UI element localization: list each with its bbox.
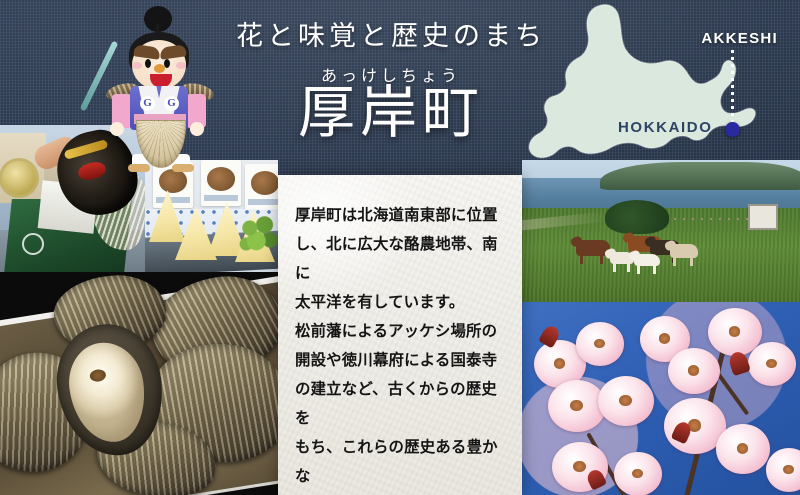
akkeshi-leader-line	[731, 50, 734, 125]
cherry-blossom	[748, 342, 796, 386]
hokkaido-map: HOKKAIDO AKKESHI	[522, 0, 800, 200]
poster-canvas: HOKKAIDO AKKESHI 花と味覚と歴史のまち あっけしちょう 厚岸町	[0, 0, 800, 495]
mascot-sandal	[172, 164, 194, 172]
description-panel: 厚岸町は北海道南東部に位置 し、北に広大な酪農地帯、南に 太平洋を有しています。…	[278, 175, 522, 495]
oyster-photo	[0, 272, 278, 495]
cherry-blossom	[668, 348, 720, 394]
package-window	[251, 171, 278, 195]
mascot-nose	[154, 64, 165, 73]
akkeshi-label: AKKESHI	[701, 30, 778, 47]
mascot-crest-icon	[164, 96, 179, 111]
description-text: 厚岸町は北海道南東部に位置 し、北に広大な酪農地帯、南に 太平洋を有しています。…	[295, 201, 507, 495]
cherry-blossom	[598, 376, 654, 426]
mascot-crest-icon	[140, 96, 155, 111]
pasture-bush	[605, 200, 669, 234]
sakura-photo	[522, 302, 800, 495]
cherry-blossom	[548, 380, 606, 432]
page-title: 厚岸町	[226, 84, 556, 144]
headline-block: 花と味覚と歴史のまち あっけしちょう 厚岸町	[226, 14, 556, 144]
mascot-cheek	[132, 62, 142, 69]
cherry-blossom	[716, 424, 770, 474]
cheese-photo	[145, 160, 278, 272]
package-label-bar	[156, 197, 190, 203]
cheese-package	[245, 164, 278, 210]
cherry-blossom	[576, 322, 624, 366]
akkeshi-mascot	[98, 2, 226, 174]
hokkaido-label: HOKKAIDO	[618, 119, 712, 136]
oyster-meat	[64, 338, 151, 447]
festival-emblem	[22, 233, 44, 255]
horse-foal	[634, 254, 660, 266]
festival-bell	[2, 161, 36, 195]
parsley-garnish	[236, 216, 278, 256]
horse	[670, 244, 698, 258]
pasture-signboard	[748, 204, 778, 230]
tagline: 花と味覚と歴史のまち	[226, 14, 556, 53]
mascot-cheek	[176, 62, 186, 69]
cherry-blossom	[614, 452, 662, 495]
package-label-bar	[204, 195, 238, 201]
mascot-hand	[110, 122, 124, 136]
mascot-eye	[145, 59, 151, 68]
mascot-sandal	[128, 164, 150, 172]
akkeshi-marker-dot	[725, 122, 740, 137]
mascot-hand	[190, 122, 204, 136]
package-label-bar	[248, 199, 278, 205]
